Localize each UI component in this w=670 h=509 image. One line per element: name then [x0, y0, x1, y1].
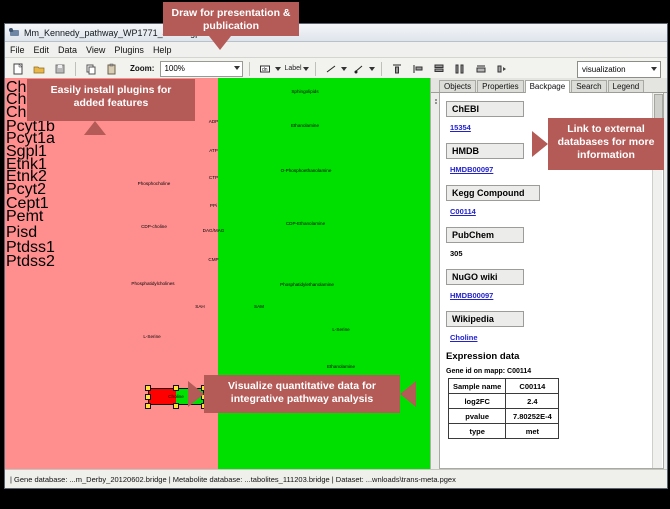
expression-data-heading: Expression data [446, 351, 663, 362]
db-header-nugo: NuGO wiki [446, 269, 524, 285]
zoom-label: Zoom: [130, 64, 154, 73]
expr-key: pvalue [449, 409, 506, 424]
node-label: O-Phosphoethanolamine [281, 168, 332, 173]
node-label: Phosphocholine [138, 181, 171, 186]
callout-visualize: Visualize quantitative data for integrat… [204, 375, 400, 413]
new-icon[interactable] [9, 60, 27, 78]
label-tool[interactable]: Label [284, 65, 308, 72]
title-bar: Mm_Kennedy_pathway_WP1771_45176.gpml [5, 24, 667, 42]
group-icon[interactable] [493, 60, 511, 78]
callout-plugins-text: Easily install plugins for added feature… [51, 84, 172, 109]
db-header-kegg: Kegg Compound [446, 185, 540, 201]
node-label: CDP-Ethanolamine [286, 221, 325, 226]
node-label: L-Serine [143, 334, 160, 339]
node-label: DAG/MAG [203, 228, 225, 233]
size-icon[interactable] [472, 60, 490, 78]
toolbar-separator-3 [315, 62, 316, 76]
db-header-hmdb: HMDB [446, 143, 524, 159]
callout-draw: Draw for presentation & publication [163, 2, 299, 36]
gene-pemt[interactable]: Pemt [5, 207, 43, 223]
node-label: Ethanolamine [291, 123, 319, 128]
menu-item-view[interactable]: View [86, 45, 105, 55]
chevron-down-icon[interactable] [275, 67, 281, 71]
db-link-chebi[interactable]: 15354 [450, 123, 471, 132]
interaction-icon[interactable] [350, 60, 368, 78]
table-row: log2FC 2.4 [449, 394, 559, 409]
menu-bar: File Edit Data View Plugins Help [5, 42, 667, 58]
db-link-hmdb[interactable]: HMDB00097 [450, 165, 493, 174]
callout-visualize-text: Visualize quantitative data for integrat… [228, 380, 376, 405]
expr-key: Sample name [449, 379, 506, 394]
tab-search[interactable]: Search [571, 80, 606, 92]
selection-handle[interactable] [145, 394, 151, 400]
node-label: Ethanolamine [327, 364, 355, 369]
table-row: Sample name C00114 [449, 379, 559, 394]
tab-properties[interactable]: Properties [477, 80, 523, 92]
app-icon [9, 27, 20, 38]
tab-label: Search [576, 82, 601, 91]
table-row: type met [449, 424, 559, 439]
node-label: CDP-choline [141, 224, 167, 229]
datanode-tool[interactable]: dn [256, 60, 281, 78]
db-link-wikipedia[interactable]: Choline [450, 333, 478, 342]
gene-id-on-mapp: Gene id on mapp: C00114 [446, 368, 663, 375]
selection-handle[interactable] [173, 385, 179, 391]
pathway-canvas[interactable]: Title: Availa Organ [5, 78, 431, 469]
menu-item-file[interactable]: File [10, 45, 25, 55]
node-label: PPi [210, 203, 217, 208]
node-label: CTP [209, 175, 218, 180]
selection-handle[interactable] [173, 403, 179, 409]
toolbar-separator [75, 62, 76, 76]
node-label: CMP [208, 257, 218, 262]
callout-links: Link to external databases for more info… [548, 118, 664, 170]
db-entry-kegg: Kegg Compound C00114 [446, 183, 663, 219]
node-label: ATP [209, 148, 218, 153]
tab-label: Legend [613, 82, 640, 91]
paste-icon[interactable] [103, 60, 121, 78]
db-entry-pubchem: PubChem 305 [446, 225, 663, 261]
tab-label: Properties [482, 82, 518, 91]
toolbar-separator-4 [381, 62, 382, 76]
node-label: Choline [168, 394, 184, 399]
chevron-down-icon[interactable] [369, 67, 375, 71]
db-link-kegg[interactable]: C00114 [450, 207, 476, 216]
callout-visualize-arrow-left [188, 381, 204, 407]
pathvisio-window: Mm_Kennedy_pathway_WP1771_45176.gpml Fil… [4, 23, 668, 489]
chevron-down-icon [234, 66, 240, 70]
callout-links-arrow [532, 131, 548, 157]
db-header-wikipedia: Wikipedia [446, 311, 524, 327]
db-entry-nugo: NuGO wiki HMDB00097 [446, 267, 663, 303]
gene-ptdss1[interactable]: Ptdss1 [5, 238, 71, 252]
expr-value: 7.80252E-4 [506, 409, 559, 424]
datanode-icon[interactable]: dn [256, 60, 274, 78]
callout-links-text: Link to external databases for more info… [558, 123, 655, 161]
toolbar-separator-2 [249, 62, 250, 76]
gene-label: Ptdss2 [6, 253, 55, 270]
menu-item-plugins[interactable]: Plugins [114, 45, 144, 55]
callout-plugins-arrow [84, 121, 106, 135]
db-value-pubchem: 305 [450, 249, 463, 258]
selection-handle[interactable] [145, 403, 151, 409]
open-icon[interactable] [30, 60, 48, 78]
tab-grip[interactable] [434, 92, 438, 99]
gene-pcyt1a[interactable]: Pcyt1a [5, 130, 62, 142]
line-icon[interactable] [322, 60, 340, 78]
expr-value: 2.4 [506, 394, 559, 409]
tab-label: Objects [444, 82, 471, 91]
node-label: Sphingolipids [291, 89, 318, 94]
visualization-value: visualization [582, 65, 626, 74]
callout-draw-arrow [209, 36, 231, 50]
callout-plugins: Easily install plugins for added feature… [27, 79, 195, 121]
zoom-select[interactable]: 100% [160, 61, 243, 77]
status-text: | Gene database: ...m_Derby_20120602.bri… [5, 475, 456, 484]
status-bar: | Gene database: ...m_Derby_20120602.bri… [5, 469, 667, 488]
chevron-down-icon [651, 67, 657, 71]
db-header-chebi: ChEBI [446, 101, 524, 117]
node-label: ADP [209, 119, 218, 124]
expression-table: Sample name C00114 log2FC 2.4 pvalue 7.8… [448, 378, 559, 439]
visualization-select[interactable]: visualization [577, 61, 661, 78]
menu-item-data[interactable]: Data [58, 45, 77, 55]
callout-visualize-arrow-right [400, 381, 416, 407]
svg-text:dn: dn [262, 67, 268, 73]
menu-item-edit[interactable]: Edit [34, 45, 50, 55]
node-label: L-Serine [332, 327, 349, 332]
stack-icon[interactable] [430, 60, 448, 78]
node-label: SAM [254, 304, 264, 309]
menu-item-help[interactable]: Help [153, 45, 172, 55]
chevron-down-icon[interactable] [341, 67, 347, 71]
zoom-value: 100% [164, 64, 184, 73]
align-left-icon[interactable] [409, 60, 427, 78]
side-panel-tabs: Objects Properties Backpage Search Legen… [431, 78, 667, 93]
callout-draw-text: Draw for presentation & publication [171, 7, 290, 32]
db-entry-wikipedia: Wikipedia Choline [446, 309, 663, 345]
db-link-nugo[interactable]: HMDB00097 [450, 291, 493, 300]
align-top-icon[interactable] [388, 60, 406, 78]
tab-legend[interactable]: Legend [608, 80, 645, 92]
toolbar: Zoom: 100% dn Label [5, 58, 667, 80]
selection-handle[interactable] [145, 385, 151, 391]
tab-objects[interactable]: Objects [439, 80, 476, 92]
tab-label: Backpage [530, 82, 566, 91]
distribute-icon[interactable] [451, 60, 469, 78]
tab-backpage[interactable]: Backpage [525, 80, 571, 93]
screenshot-root: Mm_Kennedy_pathway_WP1771_45176.gpml Fil… [0, 0, 670, 509]
db-header-pubchem: PubChem [446, 227, 524, 243]
expr-key: type [449, 424, 506, 439]
chevron-down-icon[interactable] [303, 67, 309, 71]
line-tool[interactable] [322, 60, 347, 78]
node-label: Phosphatidylcholines [131, 281, 174, 286]
label-tool-text: Label [284, 65, 301, 72]
node-label: Phosphatidylethanolamine [280, 282, 334, 287]
interaction-tool[interactable] [350, 60, 375, 78]
expr-key: log2FC [449, 394, 506, 409]
gene-ptdss2[interactable]: Ptdss2 [5, 252, 59, 267]
expr-value: met [506, 424, 559, 439]
expr-value: C00114 [506, 379, 559, 394]
node-label: SAH [195, 304, 204, 309]
gene-label: Pemt [6, 208, 43, 225]
copy-icon[interactable] [82, 60, 100, 78]
table-row: pvalue 7.80252E-4 [449, 409, 559, 424]
save-icon[interactable] [51, 60, 69, 78]
